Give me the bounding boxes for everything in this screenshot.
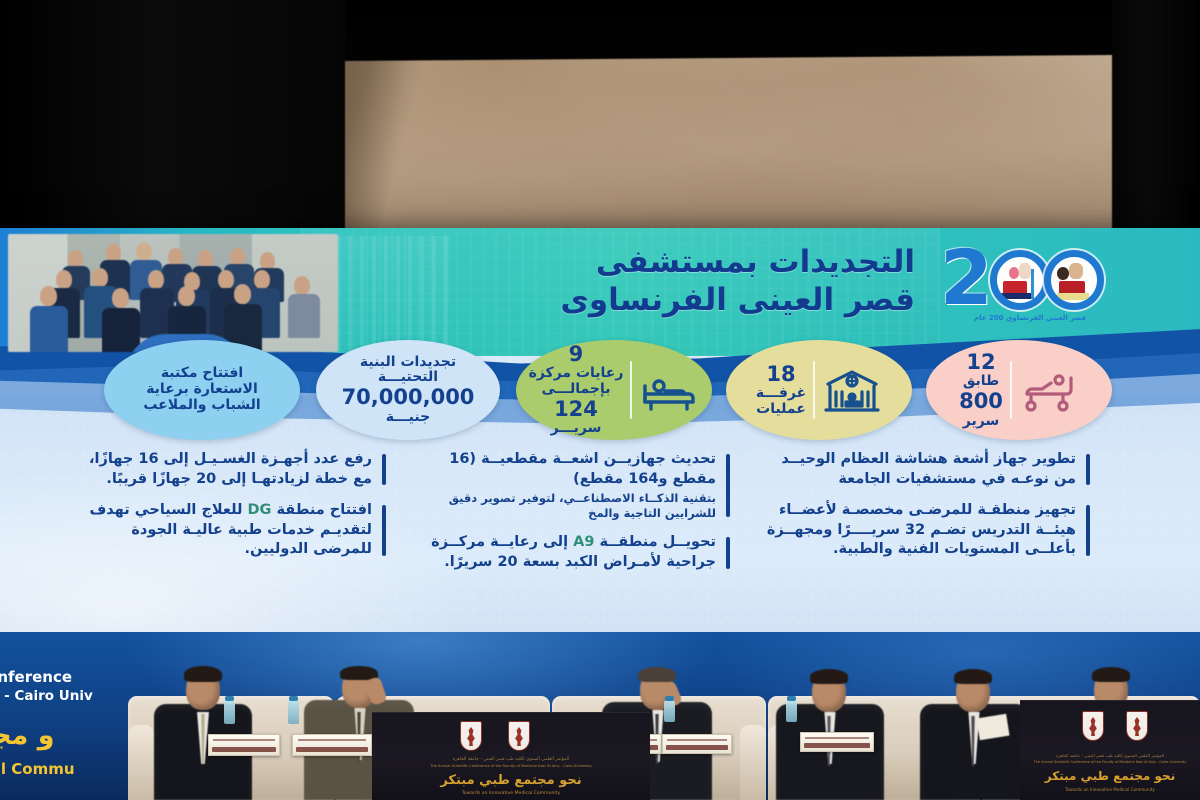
conference-hall-scene: التجديدات بمستشفى قصر العينى الفرنساوى 2… (0, 0, 1200, 800)
nameplate-4 (662, 734, 732, 754)
badge-icu-count: 9 (529, 343, 624, 367)
banner-right-arabic-title: نحو مجتمع طبي مبتكر (1020, 769, 1200, 783)
badge-library-line-2: الاستعارة برعاية (143, 382, 260, 398)
stage-panel-area: Conference Ainy - Cairo Univ و مجتم dica… (0, 632, 1200, 800)
badge-operating-rooms: 18 غرفـــة عمليات (726, 340, 912, 440)
kasr-al-ainy-crest-right (1126, 711, 1148, 741)
badge-icu-beds: 124 (529, 398, 624, 422)
badge-icu-label-3: سريـــر (529, 421, 624, 437)
water-bottle-1 (224, 700, 235, 724)
water-bottle-4 (786, 700, 797, 722)
badge-icu: 9 رعايات مركزة بإجمالـــى 124 سريـــر (516, 340, 712, 440)
slide-title: التجديدات بمستشفى قصر العينى الفرنساوى (435, 244, 915, 320)
presentation-slide: التجديدات بمستشفى قصر العينى الفرنساوى 2… (0, 228, 1200, 632)
slide-text-columns: رفع عدد أجهـزة الغسـيـل إلى 16 جهازًا، م… (0, 450, 1200, 622)
kasr-al-ainy-crest (508, 721, 530, 751)
badge-icu-label-2: بإجمالـــى (529, 382, 624, 398)
water-bottle-2 (288, 700, 299, 724)
banner-arabic-title: نحو مجتمع طبي مبتكر (372, 773, 650, 788)
right-item-2-text: تجهيز منطقـة للمرضـى مخصصـة لأعضــاء هيئ… (760, 501, 1076, 560)
badge-beds-label: سرير (959, 414, 1003, 430)
badge-infra-line-1: تجديدات البنية (342, 355, 475, 371)
badge-or-divider (813, 361, 815, 419)
paper-sheet (976, 714, 1009, 740)
banner-english-small: The Annual Scientific Conference of the … (372, 764, 650, 768)
badge-or-label-2: عمليات (756, 402, 806, 418)
banner-right-english-small: The Annual Scientific Conference of the … (1020, 760, 1200, 764)
mid-item-1-text: تحديث جهازيــن اشعــة مقطعيــة (16 مقطع … (410, 450, 716, 489)
slide-title-line-2: قصر العينى الفرنساوى (435, 282, 915, 320)
banner-arabic-small: المؤتمر العلمي السنوي لكلية طب قصر العين… (372, 757, 650, 762)
logo-caption: قصر العيني الفرنساوي 200 عام (938, 314, 1122, 322)
badge-beds-count: 800 (959, 390, 1003, 414)
backdrop-line-en-1: Conference (0, 668, 72, 686)
backdrop-line-en-3: dical Commu (0, 760, 75, 778)
left-item-1-text: رفع عدد أجهـزة الغسـيـل إلى 16 جهازًا، م… (86, 450, 372, 489)
right-item-1-text: تطوير جهاز أشعة هشاشة العظام الوحيــد من… (760, 450, 1076, 489)
column-right: تطوير جهاز أشعة هشاشة العظام الوحيــد من… (760, 450, 1090, 572)
badge-floors-label: طابق (959, 374, 1003, 390)
backdrop-line-en-2: Ainy - Cairo Univ (0, 688, 93, 704)
column-middle: تحديث جهازيــن اشعــة مقطعيــة (16 مقطع … (410, 450, 730, 585)
group-photo (8, 234, 338, 352)
left-item-1: رفع عدد أجهـزة الغسـيـل إلى 16 جهازًا، م… (86, 450, 386, 489)
banner-english-title: Towards an Innovative Medical Community (372, 791, 650, 796)
logo-ring-left (990, 250, 1050, 310)
left-item-2: افتتاح منطقة DG للعلاج السياحي تهدف لتقد… (86, 501, 386, 560)
right-item-1: تطوير جهاز أشعة هشاشة العظام الوحيــد من… (760, 450, 1090, 489)
table-banner-center: المؤتمر العلمي السنوي لكلية طب قصر العين… (372, 712, 650, 800)
badge-or-label-1: غرفـــة (756, 386, 806, 402)
panelist-5 (916, 672, 1032, 800)
cairo-university-crest (460, 721, 482, 751)
anniversary-200-logo: 2 قصر العيني الفرنساوي 200 عام (932, 242, 1122, 334)
mid-item-1-subtext: بتقنية الذكــاء الاصطناعــي، لتوفير تصوي… (410, 491, 716, 521)
right-item-2: تجهيز منطقـة للمرضـى مخصصـة لأعضــاء هيئ… (760, 501, 1090, 560)
projection-panel-dim (345, 55, 1112, 243)
banner-right-english-title: Towards an Innovative Medical Community (1020, 787, 1200, 792)
badge-infra-amount: 70,000,000 (342, 386, 475, 410)
banner-right-arabic-small: المؤتمر العلمي السنوي لكلية طب قصر العين… (1020, 753, 1200, 758)
hospital-bed-icon (639, 364, 699, 416)
badge-floors-divider (1010, 361, 1012, 419)
water-bottle-3 (664, 700, 675, 722)
mid-item-1: تحديث جهازيــن اشعــة مقطعيــة (16 مقطع … (410, 450, 730, 521)
mid-item-2-text-highlight: A9 (573, 534, 594, 550)
badge-infra-currency: جنيـــة (342, 410, 475, 426)
badge-floors-beds: 12 طابق 800 سرير (926, 340, 1112, 440)
column-left: رفع عدد أجهـزة الغسـيـل إلى 16 جهازًا، م… (86, 450, 386, 572)
badge-library-line-3: الشباب والملاعب (143, 398, 260, 414)
badge-row: افتتاح مكتبة الاستعارة برعاية الشباب وال… (0, 340, 1200, 448)
table-banner-right: المؤتمر العلمي السنوي لكلية طب قصر العين… (1020, 700, 1200, 800)
left-item-2-text-highlight: DG (248, 502, 272, 518)
logo-ring-right (1044, 250, 1104, 310)
mid-item-2-text: تحويــل منطقــة A9 إلى رعايــة مركــزة ج… (410, 533, 716, 572)
badge-floors-count: 12 (959, 351, 1003, 375)
stage-curtain-left (0, 0, 345, 240)
nameplate-5 (800, 732, 874, 752)
stretcher-icon (1019, 364, 1079, 416)
badge-infrastructure: تجديدات البنية التحتيـــة 70,000,000 جني… (316, 340, 500, 440)
badge-icu-label-1: رعايات مركزة (529, 366, 624, 382)
left-item-2-text: افتتاح منطقة DG للعلاج السياحي تهدف لتقد… (86, 501, 372, 560)
badge-or-count: 18 (756, 363, 806, 387)
badge-infra-line-2: التحتيـــة (342, 370, 475, 386)
mid-item-2: تحويــل منطقــة A9 إلى رعايــة مركــزة ج… (410, 533, 730, 572)
backdrop-line-ar: و مجتم (0, 720, 55, 751)
slide-title-line-1: التجديدات بمستشفى (435, 244, 915, 282)
nameplate-1 (208, 734, 280, 756)
nameplate-2 (292, 734, 372, 756)
stage-curtain-right (1112, 0, 1200, 240)
badge-library: افتتاح مكتبة الاستعارة برعاية الشباب وال… (104, 340, 300, 440)
badge-library-line-1: افتتاح مكتبة (143, 366, 260, 382)
clinic-building-icon (822, 364, 882, 416)
badge-icu-divider (630, 361, 632, 419)
cairo-university-crest-right (1082, 711, 1104, 741)
